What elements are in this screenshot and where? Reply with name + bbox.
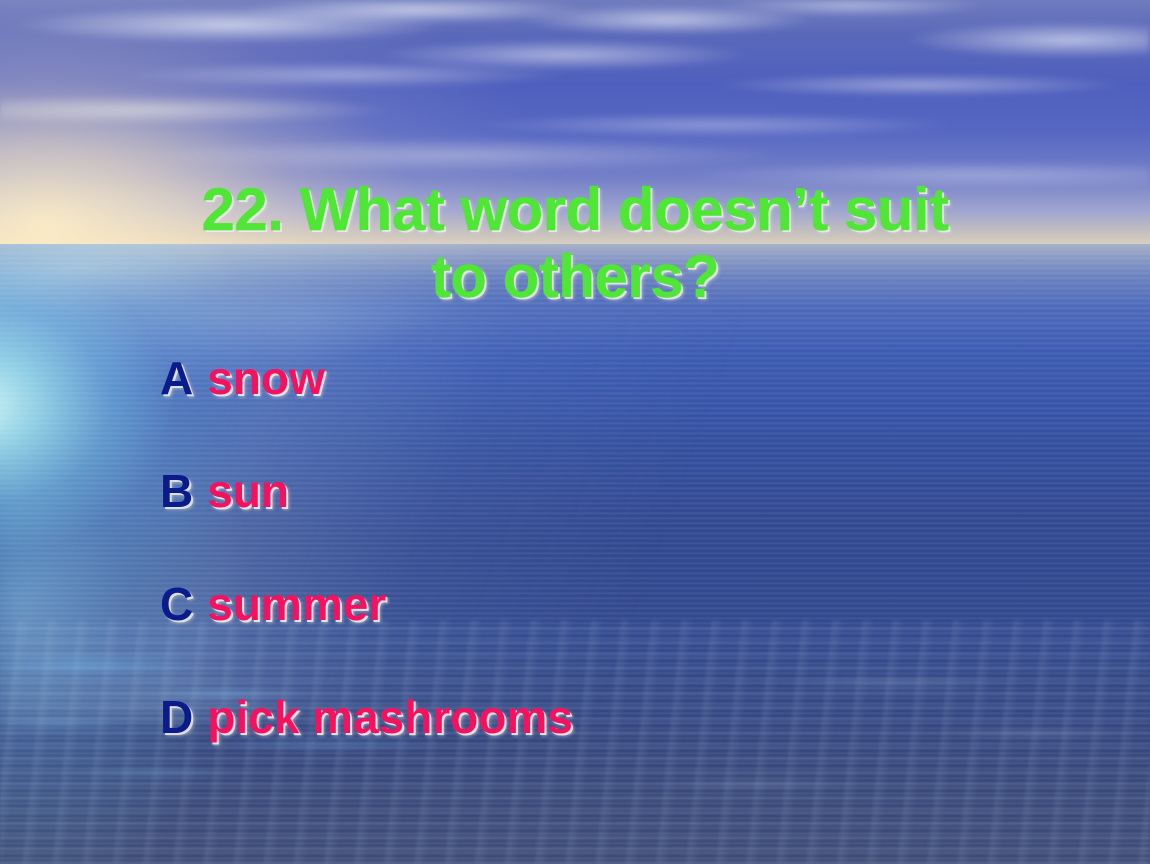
- answer-option-d-letter: D: [160, 694, 193, 740]
- slide-content: 22. What word doesn’t suit to others? A …: [0, 0, 1150, 864]
- answer-option-c[interactable]: C summer: [160, 581, 1090, 694]
- question-title-line-1: 22. What word doesn’t suit: [201, 176, 948, 243]
- answer-options-list: A snow B sun C summer D pick mashrooms: [160, 355, 1090, 807]
- quiz-slide: 22. What word doesn’t suit to others? A …: [0, 0, 1150, 864]
- answer-option-b-text: sun: [207, 468, 289, 514]
- answer-option-a[interactable]: A snow: [160, 355, 1090, 468]
- question-title: 22. What word doesn’t suit to others?: [75, 176, 1075, 310]
- answer-option-b[interactable]: B sun: [160, 468, 1090, 581]
- question-title-line-2: to others?: [431, 243, 719, 310]
- answer-option-d-text: pick mashrooms: [207, 694, 573, 740]
- answer-option-c-text: summer: [207, 581, 386, 627]
- answer-option-b-letter: B: [160, 468, 193, 514]
- answer-option-a-text: snow: [207, 355, 325, 401]
- answer-option-d[interactable]: D pick mashrooms: [160, 694, 1090, 807]
- answer-option-a-letter: A: [160, 355, 193, 401]
- answer-option-c-letter: C: [160, 581, 193, 627]
